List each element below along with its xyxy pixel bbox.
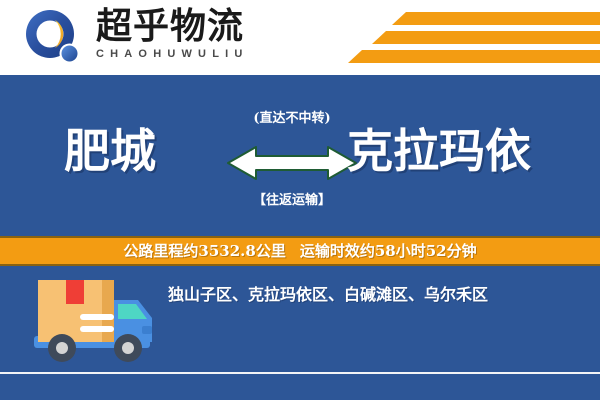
round-trip-note: 【往返运输】 <box>228 193 356 209</box>
route-middle-group: (直达不中转) 【往返运输】 <box>228 109 356 219</box>
distance-text: 公路里程约3532.8公里 <box>123 242 285 260</box>
footer-divider <box>0 372 600 374</box>
header-stripe-3 <box>348 50 600 63</box>
banner-header: 超乎物流 CHAOHUWULIU <box>0 0 600 75</box>
brand-block: 超乎物流 CHAOHUWULIU <box>96 6 296 70</box>
header-stripe-2 <box>372 31 600 44</box>
coverage-districts: 独山子区、克拉玛依区、白碱滩区、乌尔禾区 <box>168 284 488 306</box>
header-stripe-1 <box>392 12 600 25</box>
circular-q-logo-icon <box>24 8 84 68</box>
logistics-route-banner: 超乎物流 CHAOHUWULIU 肥城 (直达不中转) 【往返运输】 克拉玛依 … <box>0 0 600 400</box>
duration-text: 运输时效约58小时52分钟 <box>300 242 477 260</box>
origin-city: 肥城 <box>64 123 156 179</box>
bidirectional-arrow-icon <box>226 137 358 181</box>
route-info-bar: 公路里程约3532.8公里 运输时效约58小时52分钟 <box>0 236 600 266</box>
destination-city: 克拉玛依 <box>347 123 531 179</box>
brand-name-cn: 超乎物流 <box>96 6 296 46</box>
delivery-truck-icon <box>30 274 160 366</box>
brand-name-en: CHAOHUWULIU <box>96 47 296 61</box>
route-section: 肥城 (直达不中转) 【往返运输】 克拉玛依 <box>0 75 600 236</box>
coverage-section: 独山子区、克拉玛依区、白碱滩区、乌尔禾区 <box>0 268 600 400</box>
direct-shipping-note: (直达不中转) <box>228 111 356 127</box>
